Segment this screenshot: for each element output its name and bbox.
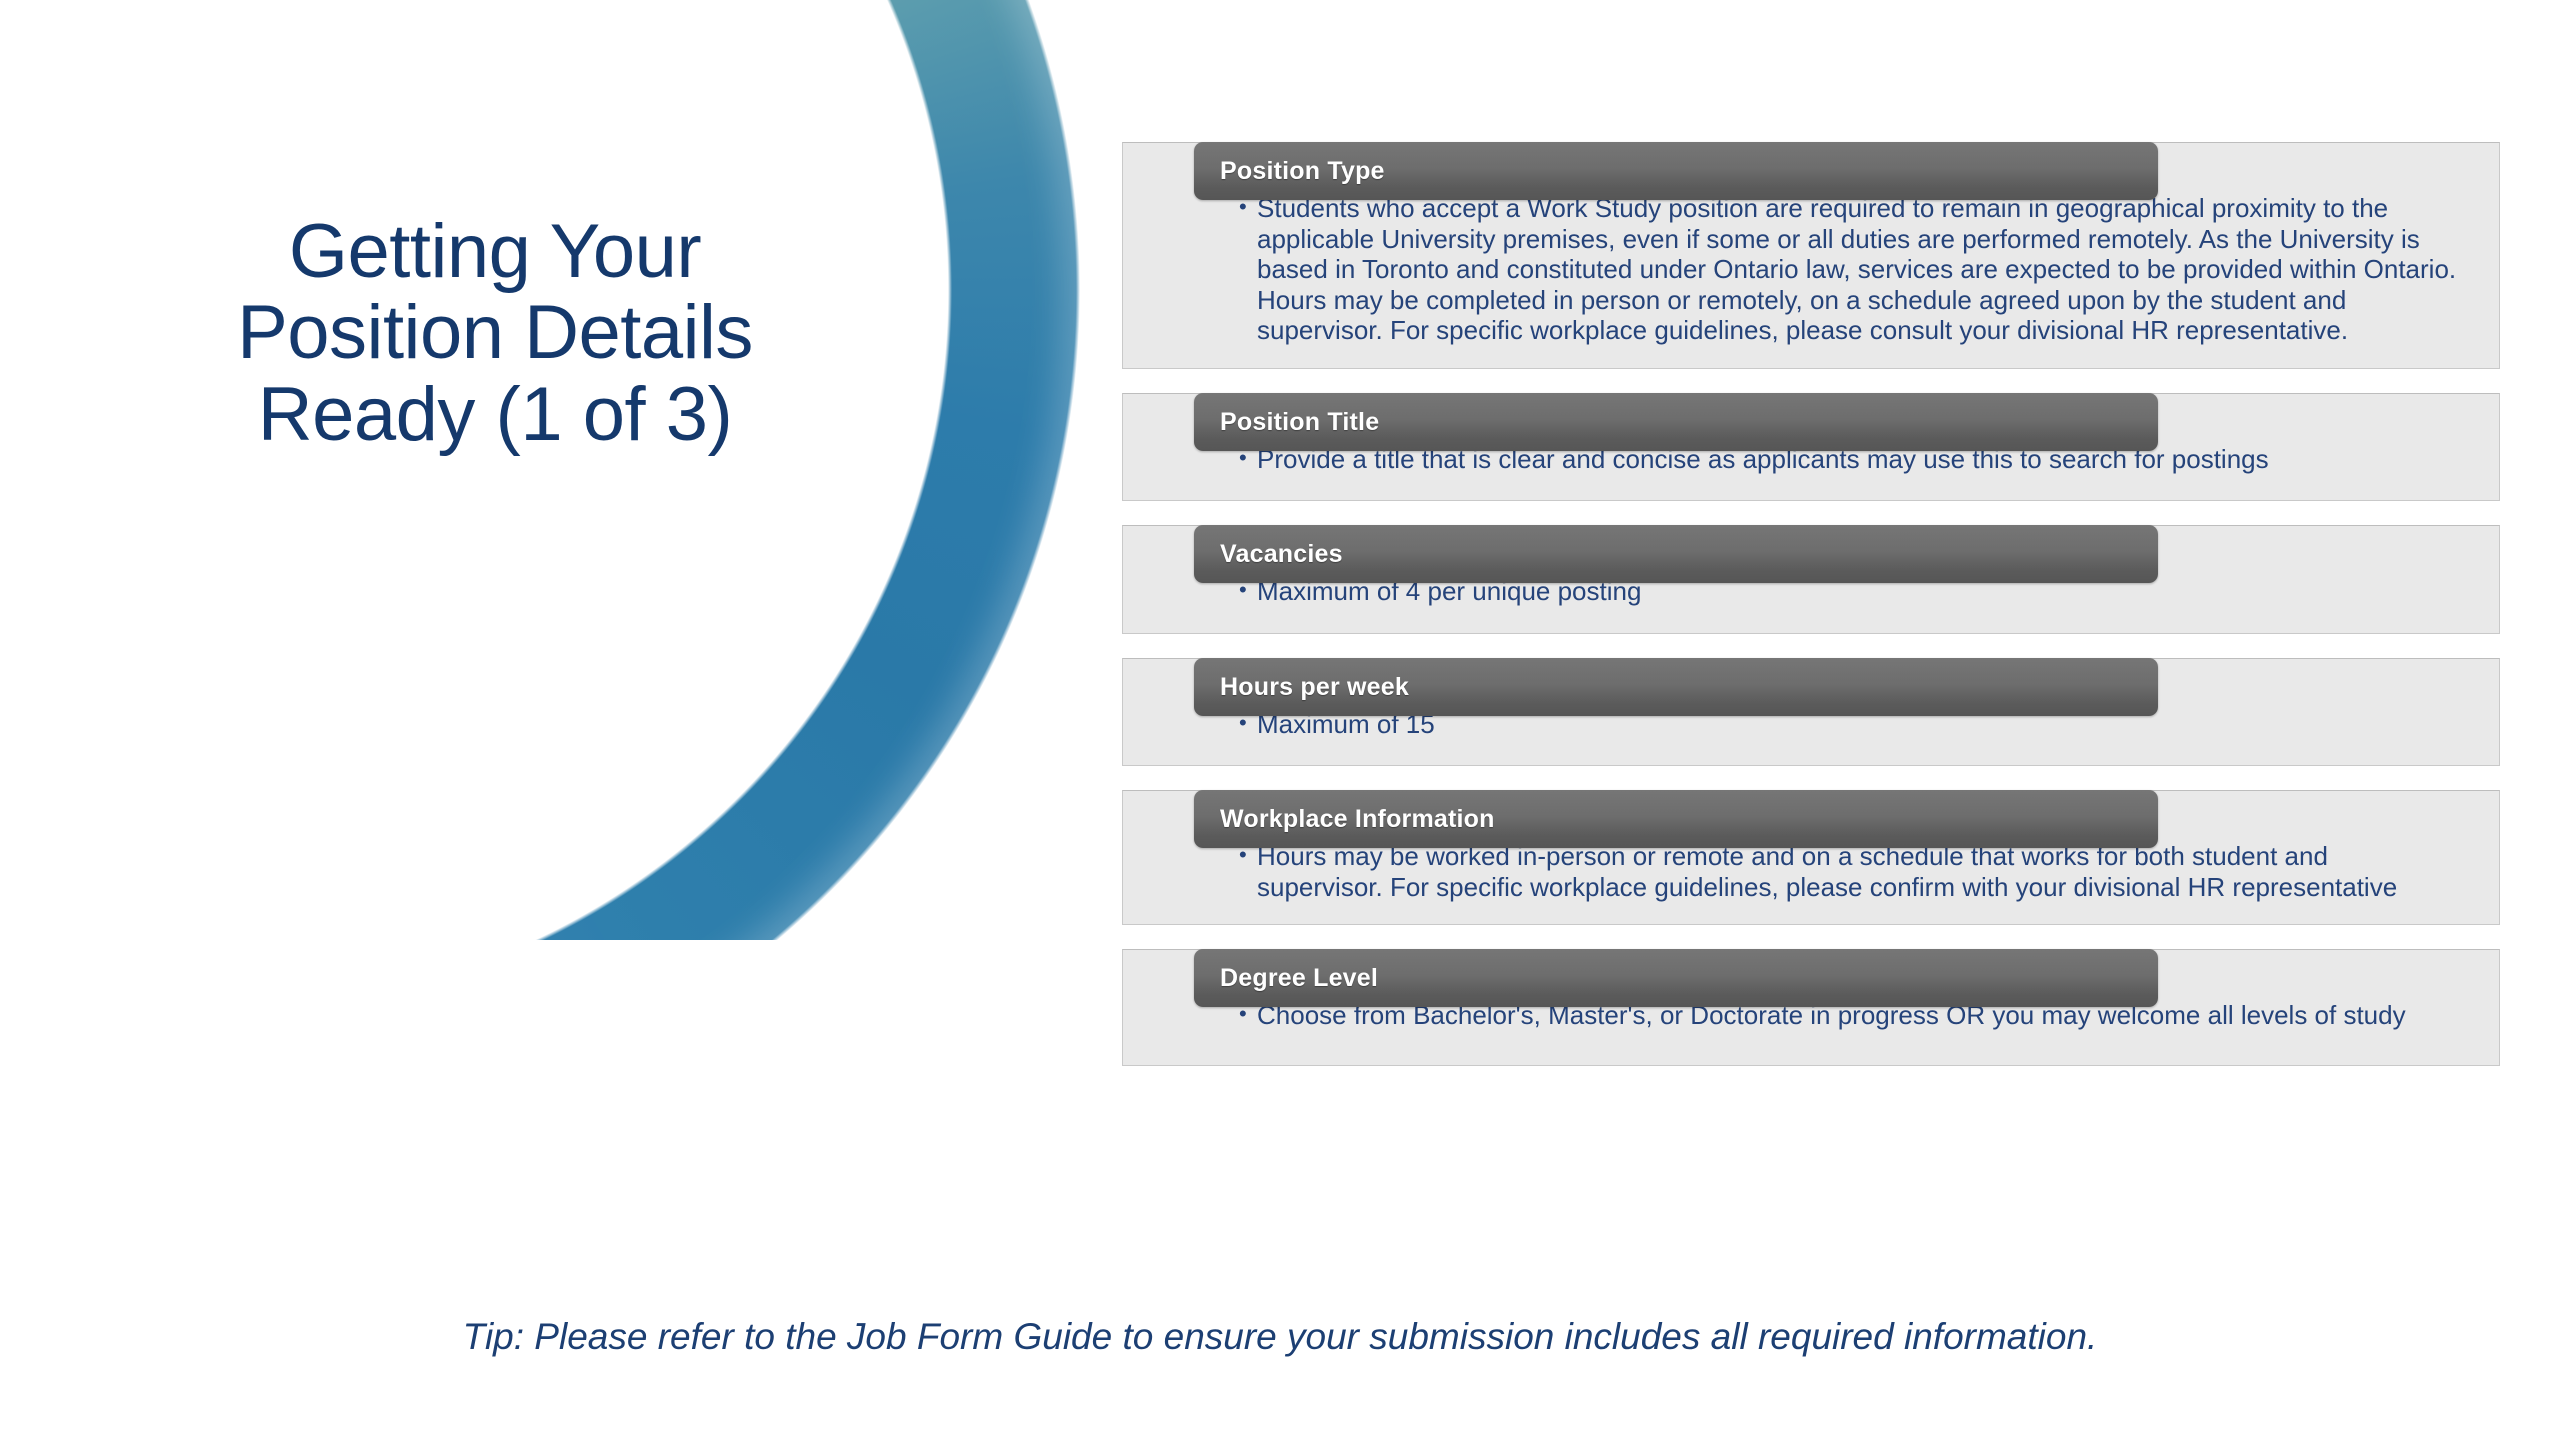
arc-color-band [0,0,1080,940]
detail-block-list: Students who accept a Work Study positio… [1122,118,2500,1066]
detail-block: Maximum of 4 per unique posting Vacancie… [1122,525,2500,634]
detail-block: Maximum of 15 Hours per week [1122,658,2500,767]
detail-block-header: Hours per week [1194,658,2158,716]
detail-block-header: Position Title [1194,393,2158,451]
detail-block-header: Vacancies [1194,525,2158,583]
detail-block-header: Position Type [1194,142,2158,200]
bullet-list: Students who accept a Work Study positio… [1239,193,2459,346]
detail-block: Hours may be worked in-person or remote … [1122,790,2500,925]
detail-block: Students who accept a Work Study positio… [1122,142,2500,369]
detail-block-header: Degree Level [1194,949,2158,1007]
page-title: Getting Your Position Details Ready (1 o… [60,211,930,455]
arc-edge-softener [0,0,1080,940]
bullet-item: Hours may be worked in-person or remote … [1239,841,2459,902]
bullet-list: Hours may be worked in-person or remote … [1239,841,2459,902]
detail-block-header: Workplace Information [1194,790,2158,848]
detail-block: Choose from Bachelor's, Master's, or Doc… [1122,949,2500,1066]
detail-block: Provide a title that is clear and concis… [1122,393,2500,502]
footer-tip-text: Tip: Please refer to the Job Form Guide … [0,1316,2560,1358]
arc-bokeh-overlay [0,0,1080,940]
bokeh-arc-graphic [0,0,1160,940]
bullet-item: Students who accept a Work Study positio… [1239,193,2459,346]
